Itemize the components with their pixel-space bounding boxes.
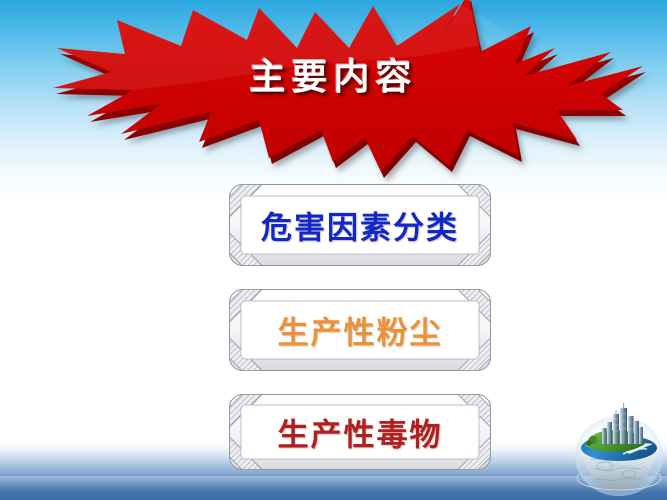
starburst-shape <box>0 0 667 186</box>
content-box-2[interactable]: 生产性粉尘 <box>228 288 492 372</box>
beveled-frame <box>228 393 492 471</box>
beveled-frame <box>228 183 492 267</box>
content-box-1[interactable]: 危害因素分类 <box>228 183 492 267</box>
presentation-slide: 主要内容 <box>0 0 667 500</box>
earth-globe-icon <box>573 398 665 498</box>
beveled-frame <box>228 288 492 372</box>
content-box-3[interactable]: 生产性毒物 <box>228 393 492 471</box>
